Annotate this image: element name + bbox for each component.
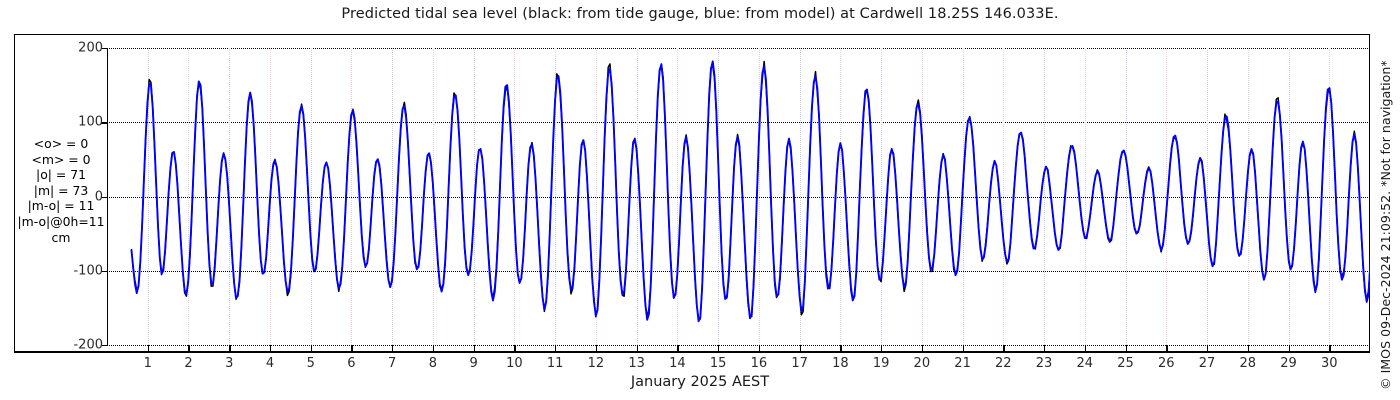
x-axis-label: 10 (506, 356, 523, 371)
stat-mean-model: <m> = 0 (16, 152, 106, 168)
x-axis-tick (718, 345, 719, 352)
tidal-chart-figure: Predicted tidal sea level (black: from t… (0, 0, 1400, 400)
x-axis-tick (759, 345, 760, 352)
x-axis-tick (1329, 345, 1330, 352)
x-axis-tick (1166, 345, 1167, 352)
x-axis-label: 14 (669, 356, 686, 371)
x-axis-tick (229, 345, 230, 352)
x-axis-label: 22 (995, 356, 1012, 371)
x-axis-tick (1044, 345, 1045, 352)
x-axis-label: 24 (1077, 356, 1094, 371)
x-axis-tick (637, 345, 638, 352)
x-axis-tick (392, 345, 393, 352)
x-axis-label: 7 (388, 356, 396, 371)
x-axis-label: 26 (1158, 356, 1175, 371)
x-axis-tick (474, 345, 475, 352)
y-axis-label: 0 (7, 189, 103, 204)
x-axis-label: 13 (628, 356, 645, 371)
y-gridline (107, 345, 1370, 346)
x-axis-label: 27 (1199, 356, 1216, 371)
x-axis-tick (596, 345, 597, 352)
x-axis-label: 16 (751, 356, 768, 371)
x-axis-tick (148, 345, 149, 352)
x-axis-label: 3 (225, 356, 233, 371)
x-axis-tick (1003, 345, 1004, 352)
x-axis-tick (351, 345, 352, 352)
x-axis-tick (311, 345, 312, 352)
x-axis-label: 8 (429, 356, 437, 371)
x-axis-tick (677, 345, 678, 352)
x-axis-tick (922, 345, 923, 352)
x-axis-tick (270, 345, 271, 352)
x-axis-label: 18 (832, 356, 849, 371)
y-axis-label: -100 (7, 263, 103, 278)
x-axis-label: 4 (266, 356, 274, 371)
x-axis-label: 25 (1117, 356, 1134, 371)
x-axis-tick (1289, 345, 1290, 352)
x-axis-label: 23 (1036, 356, 1053, 371)
x-axis-label: 1 (144, 356, 152, 371)
x-axis-label: 9 (470, 356, 478, 371)
x-axis-tick (800, 345, 801, 352)
x-axis-tick (555, 345, 556, 352)
x-axis-tick (188, 345, 189, 352)
stat-abs-diff-at-0h: |m-o|@0h=11 (16, 214, 106, 230)
x-axis-tick (1248, 345, 1249, 352)
x-axis-label: 20 (914, 356, 931, 371)
tidal-series-svg (107, 48, 1370, 345)
x-axis-tick (963, 345, 964, 352)
x-axis-tick (1126, 345, 1127, 352)
x-axis-tick (881, 345, 882, 352)
credit-note: © IMOS 09-Dec-2024 21:09:52. *Not for na… (1378, 0, 1398, 400)
x-axis-label: 5 (307, 356, 315, 371)
x-axis-tick (840, 345, 841, 352)
plot-area: 2001000-100-200 123456789101112131415161… (107, 48, 1370, 345)
x-axis-label: 29 (1280, 356, 1297, 371)
x-axis-title: January 2025 AEST (0, 374, 1400, 390)
stat-abs-observed: |o| = 71 (16, 167, 106, 183)
y-axis-label: 100 (7, 115, 103, 130)
model-line (131, 61, 1370, 321)
x-axis-label: 30 (1321, 356, 1338, 371)
x-axis-label: 21 (954, 356, 971, 371)
y-axis-label: 200 (7, 41, 103, 56)
x-axis-label: 28 (1239, 356, 1256, 371)
x-axis-tick (1085, 345, 1086, 352)
x-axis-label: 17 (791, 356, 808, 371)
x-axis-label: 6 (347, 356, 355, 371)
y-axis-label: -200 (7, 338, 103, 353)
tide-gauge-line (131, 62, 1370, 319)
x-axis-label: 12 (588, 356, 605, 371)
x-axis-tick (433, 345, 434, 352)
x-axis-tick (1207, 345, 1208, 352)
x-axis-label: 2 (184, 356, 192, 371)
credit-text: © IMOS 09-Dec-2024 21:09:52. *Not for na… (1378, 60, 1393, 390)
series-layer (107, 48, 1370, 345)
x-axis-label: 11 (547, 356, 564, 371)
x-axis-label: 15 (710, 356, 727, 371)
stat-mean-observed: <o> = 0 (16, 136, 106, 152)
x-axis-tick (514, 345, 515, 352)
chart-title: Predicted tidal sea level (black: from t… (0, 6, 1400, 22)
x-axis-label: 19 (873, 356, 890, 371)
stat-units: cm (16, 230, 106, 246)
